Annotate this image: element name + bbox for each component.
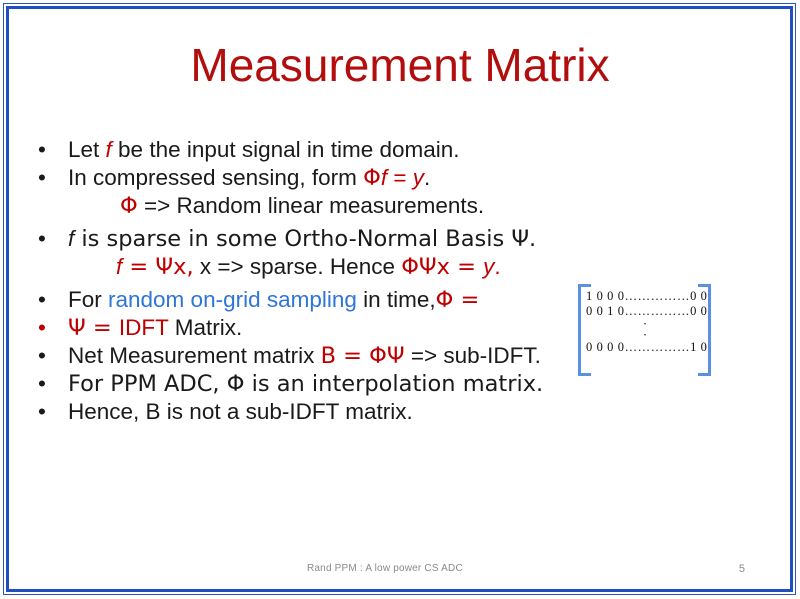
text-span: random on-grid sampling (108, 287, 357, 312)
text-span: Φ (363, 165, 381, 191)
bullet-marker: • (38, 398, 64, 426)
bullet-marker: • (38, 164, 64, 192)
slide: Measurement Matrix • Let f be the input … (0, 0, 800, 599)
text-span: Matrix. (168, 315, 242, 340)
line-text: f is sparse in some Ortho-Normal Basis Ψ… (38, 225, 536, 253)
text-span: For PPM ADC, Φ is an interpolation matri… (68, 371, 543, 397)
bullet-line: • Let f be the input signal in time doma… (38, 136, 638, 164)
text-span: => Random linear measurements. (138, 193, 484, 218)
footer-page-number: 5 (739, 563, 745, 575)
bullet-line: •For PPM ADC, Φ is an interpolation matr… (38, 370, 638, 398)
line-text: For PPM ADC, Φ is an interpolation matri… (38, 370, 543, 398)
page-title: Measurement Matrix (0, 38, 800, 92)
text-span: . (494, 254, 500, 279)
text-span: . (424, 165, 430, 190)
text-span: be the input signal in time domain. (112, 137, 460, 162)
bullet-line: •Hence, B is not a sub-IDFT matrix. (38, 398, 638, 426)
line-text: In compressed sensing, form Φf = y. (38, 164, 430, 192)
text-span: B = ΦΨ (321, 343, 405, 369)
text-span: IDFT (119, 315, 169, 340)
line-text: Φ => Random linear measurements. (38, 192, 484, 220)
bullet-marker: • (38, 286, 64, 314)
line-text: Let f be the input signal in time domain… (38, 136, 460, 164)
text-span: ΦΨx = (401, 254, 483, 280)
bullet-line: • In compressed sensing, form Φf = y. (38, 164, 638, 192)
bullet-marker: • (38, 342, 64, 370)
sub-line: Φ => Random linear measurements. (38, 192, 638, 220)
text-span: Net Measurement matrix (68, 343, 321, 368)
text-span: In compressed sensing, form (68, 165, 363, 190)
line-text: Net Measurement matrix B = ΦΨ => sub-IDF… (38, 342, 541, 370)
bullet-line: •f is sparse in some Ortho-Normal Basis … (38, 225, 638, 253)
line-text: Ψ = IDFT Matrix. (38, 314, 242, 342)
text-span: = Ψx, (122, 254, 193, 280)
matrix-vertical-dot: · (586, 329, 704, 340)
text-span: Φ = (436, 287, 480, 313)
matrix-row: 1 0 0 0……………0 0 (586, 289, 704, 304)
text-span: Φ (120, 193, 138, 219)
sub-line: f = Ψx, x => sparse. Hence ΦΨx = y. (38, 253, 638, 281)
footer-text: Rand PPM : A low power CS ADC (307, 563, 463, 574)
text-span: y (483, 254, 494, 279)
text-span: Ψ = (68, 315, 119, 341)
text-span: is sparse in some Ortho-Normal Basis Ψ. (74, 226, 536, 252)
text-span: = (387, 165, 413, 190)
bullet-marker: • (38, 370, 64, 398)
text-span: For (68, 287, 108, 312)
bullet-line: •Net Measurement matrix B = ΦΨ => sub-ID… (38, 342, 638, 370)
text-span: Hence, B is not a sub-IDFT matrix. (68, 399, 413, 424)
line-text: Hence, B is not a sub-IDFT matrix. (38, 398, 413, 426)
text-span: Let (68, 137, 106, 162)
bullet-marker: • (38, 314, 64, 342)
bullet-line: •For random on-grid sampling in time,Φ = (38, 286, 638, 314)
bullet-line: •Ψ = IDFT Matrix. (38, 314, 638, 342)
bullet-marker: • (38, 225, 64, 253)
line-text: For random on-grid sampling in time,Φ = (38, 286, 479, 314)
text-span: y (413, 165, 424, 190)
text-span: in time, (357, 287, 436, 312)
measurement-matrix-figure: 1 0 0 0……………0 00 0 1 0……………0 0··0 0 0 0…… (578, 284, 711, 376)
text-span: x => sparse. Hence (194, 254, 402, 279)
bullet-marker: • (38, 136, 64, 164)
line-text: f = Ψx, x => sparse. Hence ΦΨx = y. (38, 253, 501, 281)
bullet-list: • Let f be the input signal in time doma… (38, 136, 638, 426)
matrix-rows: 1 0 0 0……………0 00 0 1 0……………0 0··0 0 0 0…… (586, 289, 704, 355)
text-span: => sub-IDFT. (405, 343, 541, 368)
matrix-row: 0 0 0 0……………1 0 (586, 340, 704, 355)
